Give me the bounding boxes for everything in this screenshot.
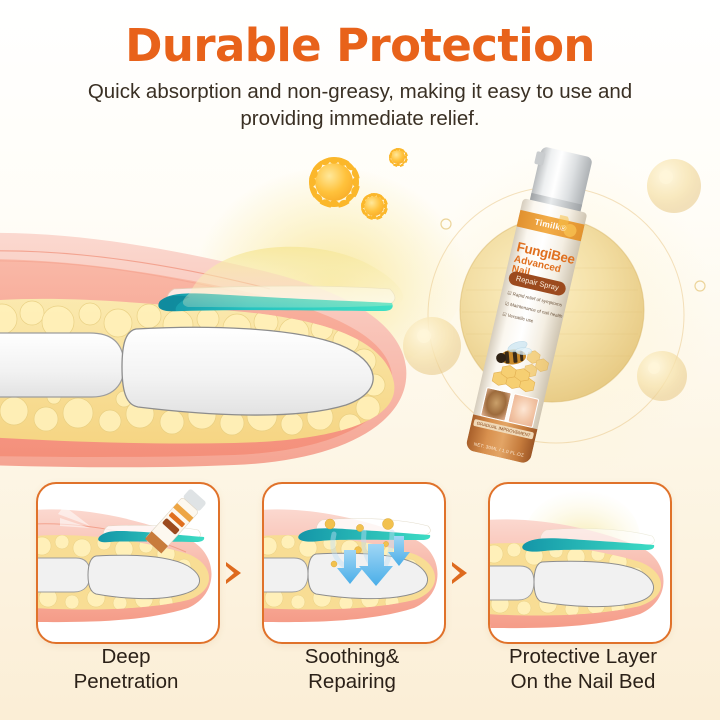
product-infographic: Durable Protection Quick absorption and … bbox=[0, 0, 720, 720]
step2-caption-line1: Soothing& bbox=[252, 645, 452, 670]
step2-caption: Soothing& Repairing bbox=[252, 645, 452, 694]
header: Durable Protection Quick absorption and … bbox=[0, 0, 720, 132]
step-arrow-1 bbox=[226, 562, 241, 584]
page-subtitle: Quick absorption and non-greasy, making … bbox=[0, 78, 720, 132]
step2-illustration bbox=[264, 484, 444, 642]
step-card-protective-layer[interactable] bbox=[488, 482, 672, 644]
step-card-deep-penetration[interactable] bbox=[36, 482, 220, 644]
honeycomb-accent bbox=[554, 215, 585, 246]
step3-caption-line1: Protective Layer bbox=[468, 645, 698, 670]
hero-nail-cross-section bbox=[0, 215, 434, 475]
step1-caption-line2: Penetration bbox=[16, 670, 236, 695]
net-content: NET: 30ML / 1.0 FL.OZ bbox=[466, 440, 531, 460]
step-card-soothing-repairing[interactable] bbox=[262, 482, 446, 644]
fungus-particle-medium bbox=[364, 196, 384, 216]
step1-illustration bbox=[38, 484, 218, 642]
benefit-list: ☑ Rapid relief of symptoms ☑ Maintenance… bbox=[502, 290, 567, 331]
step3-caption: Protective Layer On the Nail Bed bbox=[468, 645, 698, 694]
step3-illustration bbox=[490, 484, 670, 642]
step3-caption-line2: On the Nail Bed bbox=[468, 670, 698, 695]
step2-caption-line2: Repairing bbox=[252, 670, 452, 695]
page-title: Durable Protection bbox=[0, 22, 720, 69]
step1-caption: Deep Penetration bbox=[16, 645, 236, 694]
fungus-particle-large bbox=[315, 163, 353, 201]
step1-caption-line1: Deep bbox=[16, 645, 236, 670]
step-arrow-2 bbox=[452, 562, 467, 584]
